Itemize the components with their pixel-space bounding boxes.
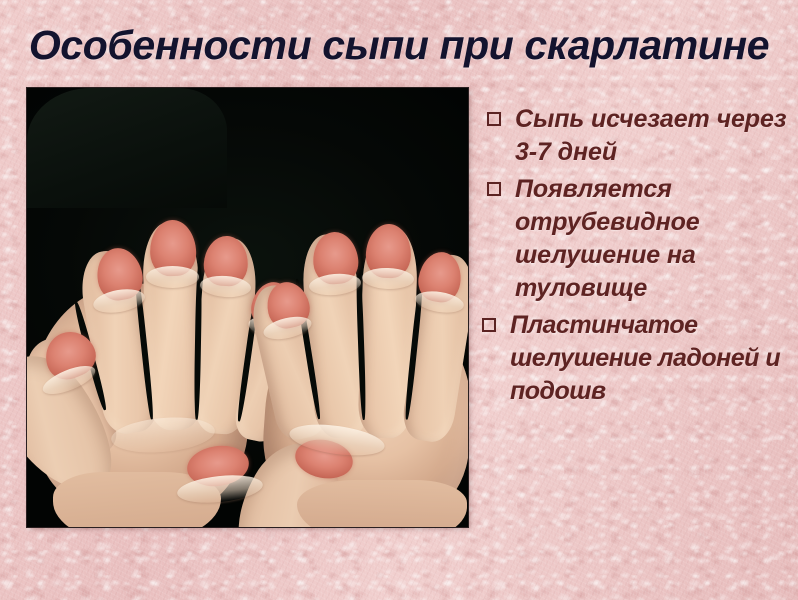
clinical-photo bbox=[27, 88, 468, 527]
list-item: Появляется отрубевидное шелушение на тул… bbox=[487, 173, 792, 305]
presentation-slide: Особенности сыпи при скарлатине bbox=[0, 0, 798, 600]
hollow-square-bullet-icon bbox=[482, 318, 501, 337]
hollow-square-bullet-icon bbox=[487, 182, 506, 201]
list-item: Сыпь исчезает через 3-7 дней bbox=[487, 103, 792, 169]
list-item: Пластинчатое шелушение ладоней и подошв bbox=[482, 309, 792, 408]
bullet-text: Появляется отрубевидное шелушение на тул… bbox=[515, 173, 792, 305]
bullet-text: Сыпь исчезает через 3-7 дней bbox=[515, 103, 792, 169]
hollow-square-bullet-icon bbox=[487, 112, 506, 131]
page-title: Особенности сыпи при скарлатине bbox=[0, 22, 798, 69]
bullet-list: Сыпь исчезает через 3-7 дней Появляется … bbox=[487, 103, 792, 412]
photo-cloth-shadow bbox=[27, 88, 227, 208]
bullet-text: Пластинчатое шелушение ладоней и подошв bbox=[510, 309, 792, 408]
